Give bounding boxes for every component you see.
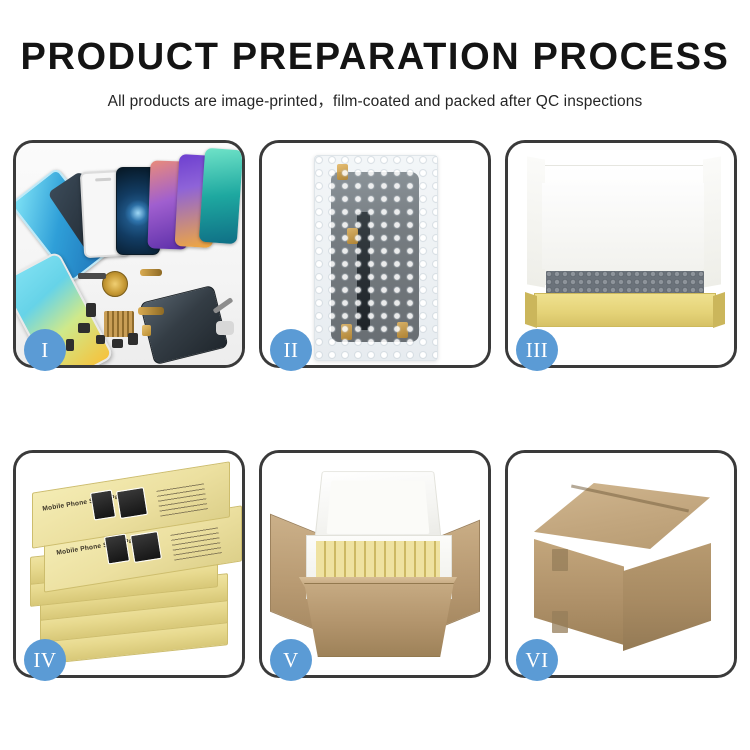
carton-tape-patch <box>552 611 568 633</box>
white-foam-sheet <box>542 183 704 269</box>
chip-part <box>128 333 138 345</box>
carton-top-face <box>534 483 710 549</box>
printed-screen-image <box>130 531 162 563</box>
process-step-panel-3: III <box>505 140 737 368</box>
step-badge-1: I <box>24 329 66 371</box>
page-subtitle: All products are image-printed，film-coat… <box>0 89 750 111</box>
printed-screen-image <box>116 487 148 519</box>
carton-body <box>294 583 464 657</box>
process-step-panel-1: I <box>13 140 245 368</box>
step-badge-6: VI <box>516 639 558 681</box>
bubble-wrap-bag <box>314 155 438 361</box>
grey-bubble-padding <box>546 271 704 295</box>
chip-part <box>66 339 74 351</box>
wrapped-part <box>331 172 419 342</box>
chip-part <box>78 323 90 333</box>
gold-tab <box>347 228 358 244</box>
printed-screen-image <box>104 533 130 564</box>
page-header: PRODUCT PREPARATION PROCESS All products… <box>0 0 750 111</box>
carton-side-face <box>623 543 711 651</box>
process-step-panel-2: II <box>259 140 491 368</box>
chip-part <box>112 339 123 348</box>
carton-tape-patch <box>552 549 568 571</box>
teal-gradient-phone <box>199 148 242 244</box>
step-badge-3: III <box>516 329 558 371</box>
gold-tab <box>397 322 408 338</box>
process-step-grid: I II III <box>13 140 737 678</box>
gold-contact-part <box>142 325 151 336</box>
process-step-panel-6: VI <box>505 450 737 678</box>
step-badge-2: II <box>270 329 312 371</box>
carton-front-face <box>534 539 624 645</box>
page-title: PRODUCT PREPARATION PROCESS <box>0 38 750 78</box>
flex-cable-part <box>140 269 162 276</box>
flex-cable-part <box>138 307 164 315</box>
tool-handle <box>216 321 234 335</box>
chip-part <box>86 303 96 317</box>
process-step-panel-4: Mobile Phone Spare Parts Mobile Phone Sp… <box>13 450 245 678</box>
gold-tab <box>341 324 352 340</box>
step-badge-5: V <box>270 639 312 681</box>
printed-screen-image <box>90 489 116 520</box>
part-flex-strip <box>357 212 370 330</box>
gold-tab <box>337 164 348 180</box>
step-badge-4: IV <box>24 639 66 681</box>
chip-part <box>96 335 105 344</box>
box-stack: Mobile Phone Spare Parts Mobile Phone Sp… <box>30 477 234 657</box>
process-step-panel-5: V <box>259 450 491 678</box>
small-part <box>78 273 106 279</box>
yellow-box-base <box>534 293 716 327</box>
